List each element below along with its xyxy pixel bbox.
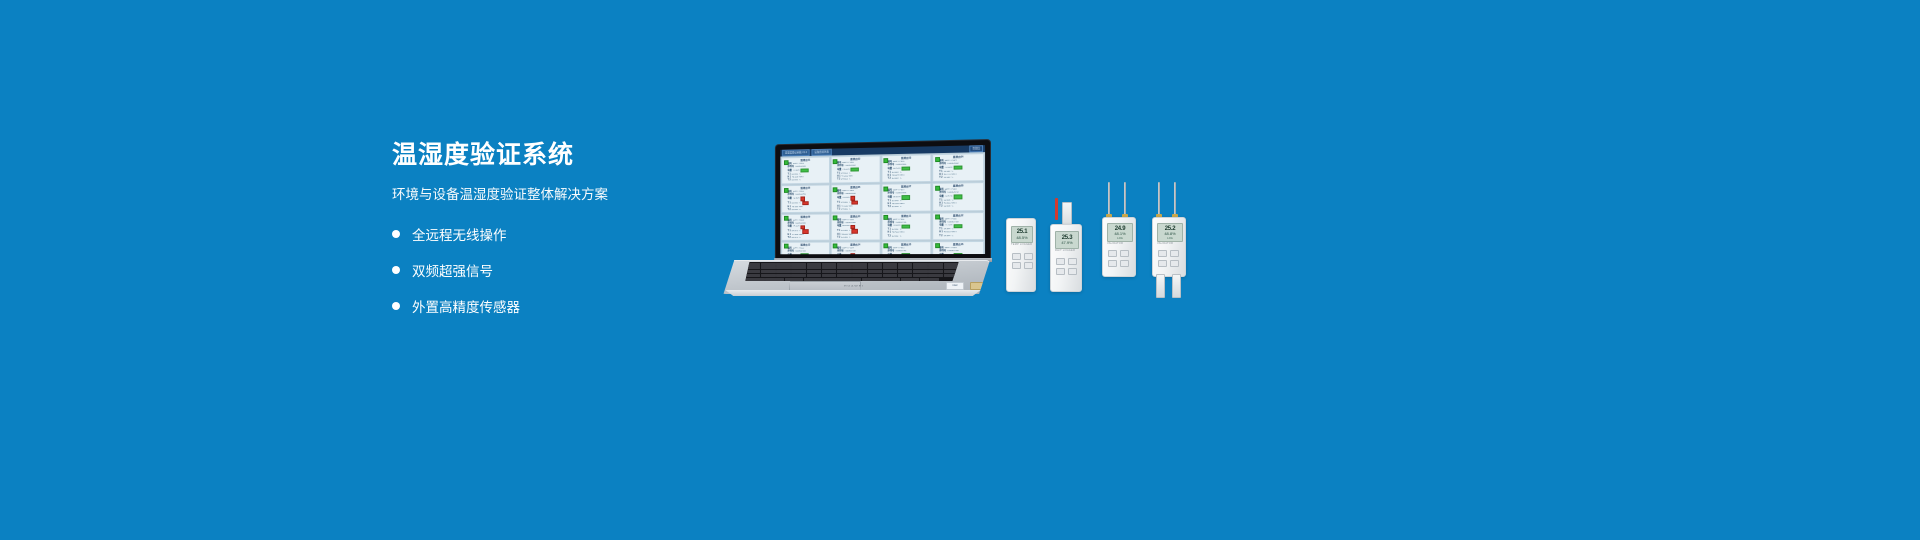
keyboard-key[interactable] [913,270,928,273]
keyboard-key[interactable] [837,263,852,266]
keyboard-key[interactable] [776,274,791,277]
keyboard-key[interactable] [791,274,806,277]
feature-list: 全远程无线操作 双频超强信号 外置高精度传感器 [392,224,722,316]
monitor-card[interactable]: 监测点12编号B04-TT-012序列号T1200571D电量77.71%T 1… [932,212,984,240]
status-led-icon [883,186,888,191]
keyboard-key[interactable] [944,270,959,273]
monitor-card[interactable]: 监测点13编号B04-TT-013序列号T1200572D电量75.02%T 1… [781,241,829,254]
lcd-status: LOG [1117,237,1122,240]
row-value: 24.882 ℃ [841,201,851,204]
row-key: T 2 [837,237,840,240]
row-value: 25.302 ℃ [841,230,851,233]
monitor-card[interactable]: 监测点04编号B04-TT-004序列号T1200563D电量75.33%T 1… [932,153,984,182]
keyboard-key[interactable] [761,270,776,273]
page-subtitle: 环境与设备温湿度验证整体解决方案 [392,186,722,204]
keyboard-key[interactable] [883,270,898,273]
keyboard-key[interactable] [913,263,928,266]
row-value: 77.08% [793,170,800,173]
device-key-ok[interactable] [1068,268,1077,275]
laptop-screen: 温湿度验证系统 V2.0 设备连接状态 管理员 监测点01编号B04-TT-00… [780,145,985,254]
row-value: 76.47% [945,196,953,199]
device-brand-label: RH/T LOGGER [1055,249,1075,252]
keyboard-key[interactable] [746,266,761,269]
hero-text-block: 温湿度验证系统 环境与设备温湿度验证整体解决方案 全远程无线操作 双频超强信号 … [392,140,722,332]
row-key: T 2 [788,179,791,182]
keyboard-key[interactable] [944,274,959,277]
row-key: 电量 [837,169,841,172]
monitor-card[interactable]: 监测点08编号B04-TT-008序列号T1200567D电量76.47%T 1… [932,182,984,211]
keyboard-key[interactable] [944,266,959,269]
probe-cable-red-icon [1055,198,1058,220]
dot-bullet-icon [392,302,400,310]
device-key-down[interactable] [1170,250,1179,257]
monitor-card-rows: 编号B04-TT-012序列号T1200571D电量77.71%T 124.94… [934,218,982,238]
monitor-card-row: T 225.066 ℃ [939,205,982,208]
row-value: 24.944 ℃ [943,235,953,238]
keyboard-key[interactable] [761,266,776,269]
monitor-card[interactable]: 监测点05编号B04-TT-005序列号T1200564D电量73.90%T 1… [781,185,829,213]
row-value: 79.12% [842,169,849,172]
row-value: 73.90% [793,198,800,201]
laptop-front-edge [720,290,986,296]
row-value: 25.003 ℃ [792,202,801,205]
status-led-icon [935,157,940,162]
external-probe-right [1172,274,1181,298]
keyboard-key[interactable] [822,270,837,273]
titlebar-spacer [833,149,967,152]
monitor-card-title: 监测点16 [934,243,982,247]
status-led-icon [833,244,838,249]
device-body: 25.3 47.9% RH/T LOGGER [1050,224,1082,292]
keyboard-key[interactable] [944,263,959,266]
probe-antenna-right-icon [1174,182,1176,216]
device-body: 25.1 48.5% TEMP LOGGER [1006,218,1036,292]
device-lcd-display: 25.3 47.9% [1055,231,1079,249]
device-lcd-display: 24.9 48.1% LOG [1107,223,1133,242]
device-key-up[interactable] [1108,250,1117,257]
row-value: 78.66% [842,197,849,200]
row-key: 电量 [888,168,892,171]
row-key: T 1 [837,202,840,205]
device-key-down[interactable] [1068,258,1077,265]
alarm-badge [851,253,856,254]
monitor-card[interactable]: 监测点15编号B04-TT-015序列号T1200574D电量78.29%T 1… [881,241,931,254]
monitor-card[interactable]: 监测点11编号B04-TT-011序列号T1200570D电量79.88%T 1… [881,212,931,240]
device-brand-label: TEMP LOGGER [1011,243,1032,246]
lcd-humidity: 48.5% [1016,236,1027,241]
keyboard-key[interactable] [883,263,898,266]
laptop-illustration: 温湿度验证系统 V2.0 设备连接状态 管理员 监测点01编号B04-TT-00… [718,140,990,300]
device-key-down[interactable] [1024,253,1033,260]
monitor-card-row: T 225.011 ℃ [888,235,930,238]
device-lcd-display: 25.1 48.5% [1011,226,1033,243]
device-keypad-2[interactable] [1158,260,1179,267]
keyboard-key[interactable] [761,263,776,266]
row-value: 82.03% [842,225,849,228]
device-key-up[interactable] [1158,250,1167,257]
data-logger-small[interactable]: 25.1 48.5% TEMP LOGGER [1006,218,1036,292]
intel-sticker: intel [946,282,964,290]
device-keypad[interactable] [1012,253,1033,260]
device-brand-label: VALIDATOR [1157,242,1173,245]
feature-label: 双频超强信号 [412,260,493,280]
keyboard-key[interactable] [913,274,928,277]
keyboard-key[interactable] [868,270,883,273]
device-key-up[interactable] [1012,253,1021,260]
keyboard-key[interactable] [807,270,822,273]
monitor-card-rows: 编号B04-TT-016序列号T1200575D电量80.64%T 125.23… [934,247,982,254]
monitor-card-title: 监测点15 [883,243,930,246]
monitor-card-row: T 225.081 ℃ [788,179,828,182]
dot-bullet-icon [392,230,400,238]
monitor-card[interactable]: 监测点02编号B04-TT-002序列号T1200561D电量79.12%T 1… [831,155,880,183]
row-key: 电量 [788,170,792,173]
monitor-card-rows: 编号B04-TT-010序列号T1200569D电量82.03%T 125.30… [832,218,878,239]
keyboard-key[interactable] [928,270,943,273]
keyboard-key[interactable] [822,266,837,269]
status-led-icon [833,187,838,192]
monitor-card-rows: 编号B04-TT-004序列号T1200563D电量75.33%T 125.11… [934,159,982,180]
keyboard-key[interactable] [746,270,761,273]
device-key-set[interactable] [1012,262,1021,269]
monitor-card-row: T 224.882 ℃ [837,208,878,211]
keyboard-key[interactable] [761,274,776,277]
external-probe-left [1156,274,1165,298]
keyboard-key[interactable] [883,266,898,269]
keyboard-key[interactable] [928,274,943,277]
device-group: 25.1 48.5% TEMP LOGGER 25.3 [1000,180,1230,330]
monitor-card[interactable]: 监测点06编号B04-TT-006序列号T1200565D电量78.66%T 1… [831,184,880,212]
row-value: 79.88% [893,225,900,228]
keyboard-key[interactable] [913,266,928,269]
laptop-base: intel HUAWEI [718,260,990,300]
row-value: 81.45% [893,168,900,171]
laptop-lid: 温湿度验证系统 V2.0 设备连接状态 管理员 监测点01编号B04-TT-00… [776,140,990,260]
status-led-icon [833,215,838,220]
feature-label: 外置高精度传感器 [412,296,520,316]
row-key: T 2 [939,235,942,238]
monitor-card-row: T 224.913 ℃ [837,178,878,181]
keyboard-key[interactable] [901,278,920,281]
keyboard-key[interactable] [898,263,913,266]
keyboard-key[interactable] [791,263,806,266]
lcd-status: LOG [1167,237,1172,240]
monitor-card-grid: 监测点01编号B04-TT-001序列号T1200560D电量77.08%T 1… [780,152,985,254]
monitor-card-row: T 224.944 ℃ [939,235,982,238]
status-led-icon [784,244,789,249]
device-brand-label: VALIDATOR [1107,242,1123,245]
keyboard-key[interactable] [791,266,806,269]
row-key: 电量 [939,167,943,170]
battery-badge [901,253,910,254]
monitor-card-rows: 编号B04-TT-014序列号T1200573D电量81.10%T 125.05… [832,247,878,254]
monitor-card-row: T 225.003 ℃ [788,208,828,211]
keyboard-key[interactable] [765,278,784,281]
device-keypad-2[interactable] [1056,268,1077,275]
keyboard-key[interactable] [746,278,765,281]
device-body: 25.2 48.8% LOG VALIDATOR [1152,217,1186,277]
row-key: T 1 [788,230,791,233]
keyboard-key[interactable] [822,274,837,277]
keyboard-key[interactable] [868,274,883,277]
list-item: 全远程无线操作 [392,224,722,244]
monitor-card[interactable]: 监测点07编号B04-TT-007序列号T1200566D电量80.21%T 1… [881,183,931,211]
keyboard-key[interactable] [868,266,883,269]
monitor-card-rows: 编号B04-TT-013序列号T1200572D电量75.02%T 125.18… [783,247,828,254]
device-keypad-2[interactable] [1108,260,1129,267]
device-lcd-display: 25.2 48.8% LOG [1157,223,1183,242]
status-led-icon [935,186,940,191]
status-led-icon [935,243,940,248]
monitor-card-row: 电量78.29% [888,253,930,254]
keyboard-key[interactable] [852,274,867,277]
keyboard-key[interactable] [852,266,867,269]
keyboard-key[interactable] [928,266,943,269]
status-led-icon [883,158,888,163]
keyboard-key[interactable] [823,278,861,281]
row-value: 25.081 ℃ [792,179,801,182]
row-key: 电量 [939,196,943,199]
keyboard-key[interactable] [883,274,898,277]
row-key: 电量 [888,225,892,228]
row-value: 80.21% [893,196,900,199]
row-key: 电量 [788,198,792,201]
laptop-brand-logo: HUAWEI [844,285,864,287]
keyboard-key[interactable] [822,263,837,266]
keyboard-key[interactable] [746,274,761,277]
keyboard-row [746,263,958,266]
row-value: 25.140 ℃ [892,206,902,209]
row-key: T 2 [888,235,891,238]
battery-badge [801,253,809,254]
monitor-card[interactable]: 监测点14编号B04-TT-014序列号T1200573D电量81.10%T 1… [831,241,880,254]
laptop-keyboard[interactable] [745,262,959,281]
keyboard-key[interactable] [898,274,913,277]
keyboard-key[interactable] [837,266,852,269]
monitor-card-rows: 编号B04-TT-007序列号T1200566D电量80.21%T 125.14… [883,189,930,209]
row-value: 24.970 ℃ [792,237,801,240]
performance-sticker [970,282,984,290]
row-value: 25.003 ℃ [792,209,801,212]
device-body: 24.9 48.1% LOG VALIDATOR [1102,217,1136,277]
device-key-ok[interactable] [1170,260,1179,267]
keyboard-key[interactable] [852,263,867,266]
device-keypad[interactable] [1108,250,1129,257]
keyboard-key[interactable] [807,274,822,277]
feature-label: 全远程无线操作 [412,224,507,244]
monitor-card-rows: 编号B04-TT-002序列号T1200561D电量79.12%T 124.91… [832,161,878,181]
monitor-card-rows: 编号B04-TT-003序列号T1200562D电量81.45%T 125.22… [883,160,930,180]
keyboard-key[interactable] [928,263,943,266]
row-key: T 2 [939,177,942,180]
row-value: 25.066 ℃ [943,206,953,209]
dot-bullet-icon [392,266,400,274]
list-item: 双频超强信号 [392,260,722,280]
keyboard-key[interactable] [746,263,761,266]
row-value: 25.011 ℃ [892,235,902,238]
keyboard-key[interactable] [804,278,823,281]
row-value: 74.55% [793,226,800,229]
battery-badge [953,253,962,254]
monitor-card[interactable]: 监测点09编号B04-TT-009序列号T1200568D电量74.55%T 1… [781,213,829,241]
row-value: 24.970 ℃ [792,230,801,233]
product-banner: 温湿度验证系统 环境与设备温湿度验证整体解决方案 全远程无线操作 双频超强信号 … [0,0,1920,540]
device-keypad[interactable] [1158,250,1179,257]
keyboard-key[interactable] [852,270,867,273]
device-keypad[interactable] [1056,258,1077,265]
keyboard-key[interactable] [920,278,939,281]
monitor-card-row: 电量81.10% [837,253,878,254]
device-keypad-2[interactable] [1012,262,1033,269]
status-led-icon [935,214,940,219]
row-key: 电量 [837,197,841,200]
row-key: T 2 [888,206,891,209]
monitor-card-row: 电量75.02% [788,253,828,254]
row-value: 25.220 ℃ [892,177,902,180]
keyboard-key[interactable] [898,266,913,269]
keyboard-row [746,270,958,273]
row-key: 电量 [888,196,892,199]
status-led-icon [883,215,888,220]
row-value: 25.302 ℃ [841,237,851,240]
keyboard-key[interactable] [785,278,804,281]
monitor-card-rows: 编号B04-TT-009序列号T1200568D电量74.55%T 124.97… [783,219,828,240]
row-key: T 1 [837,230,840,233]
monitor-card[interactable]: 监测点03编号B04-TT-003序列号T1200562D电量81.45%T 1… [881,154,931,183]
status-led-icon [784,188,789,193]
monitor-card-row: T 225.302 ℃ [837,237,878,240]
monitor-card-rows: 编号B04-TT-006序列号T1200565D电量78.66%T 124.88… [832,190,878,211]
row-key: 电量 [788,226,792,229]
monitor-card-row: T 224.970 ℃ [788,237,828,240]
row-value: 25.118 ℃ [943,177,953,180]
monitor-card-rows: 编号B04-TT-015序列号T1200574D电量78.29%T 124.89… [883,247,930,254]
keyboard-key[interactable] [776,266,791,269]
monitor-card[interactable]: 监测点10编号B04-TT-010序列号T1200569D电量82.03%T 1… [831,213,880,241]
device-key-up[interactable] [1056,258,1065,265]
row-value: 24.882 ℃ [841,208,851,211]
row-key: T 2 [888,178,891,181]
device-key-ok[interactable] [1024,262,1033,269]
device-key-ok[interactable] [1120,260,1129,267]
keyboard-key[interactable] [807,266,822,269]
keyboard-key[interactable] [837,270,852,273]
monitor-card-row: T 225.140 ℃ [888,206,930,209]
probe-antenna-right-icon [1124,182,1126,216]
keyboard-key[interactable] [862,278,881,281]
row-value: 24.913 ℃ [841,178,851,181]
page-title: 温湿度验证系统 [392,140,722,170]
device-key-set[interactable] [1158,260,1167,267]
row-key: T 2 [788,237,791,240]
keyboard-key[interactable] [868,263,883,266]
laptop-deck: intel HUAWEI [718,260,990,294]
probe-antenna-left-icon [1108,182,1110,216]
status-led-icon [784,160,789,165]
monitor-card-rows: 编号B04-TT-011序列号T1200570D电量79.88%T 125.01… [883,218,930,238]
row-key: 电量 [939,225,943,228]
keyboard-row [746,266,958,269]
status-led-icon [833,159,838,164]
probe-antenna-left-icon [1158,182,1160,216]
keyboard-key[interactable] [776,270,791,273]
row-key: T 1 [788,202,791,205]
monitor-card[interactable]: 监测点16编号B04-TT-016序列号T1200575D电量80.64%T 1… [932,241,984,254]
monitor-card-row: T 225.118 ℃ [939,176,982,179]
monitor-card-rows: 编号B04-TT-001序列号T1200560D电量77.08%T 125.08… [783,162,828,182]
keyboard-key[interactable] [881,278,900,281]
keyboard-row [746,278,958,281]
row-value: 77.71% [945,225,953,228]
list-item: 外置高精度传感器 [392,296,722,316]
monitor-card[interactable]: 监测点01编号B04-TT-001序列号T1200560D电量77.08%T 1… [781,156,829,184]
keyboard-key[interactable] [776,263,791,266]
monitor-card-rows: 编号B04-TT-008序列号T1200567D电量76.47%T 125.06… [934,188,982,208]
device-key-down[interactable] [1120,250,1129,257]
row-key: T 2 [837,178,840,181]
lcd-humidity: 47.9% [1061,241,1072,246]
keyboard-key[interactable] [837,274,852,277]
monitor-card-row: T 225.220 ℃ [888,177,930,180]
status-led-icon [784,216,789,221]
row-key: 电量 [837,226,841,229]
status-led-icon [883,244,888,249]
row-key: T 2 [939,206,942,209]
device-key-set[interactable] [1056,268,1065,275]
keyboard-key[interactable] [791,270,806,273]
keyboard-key[interactable] [898,270,913,273]
keyboard-key[interactable] [807,263,822,266]
row-key: T 2 [837,208,840,211]
row-key: T 2 [788,209,791,212]
row-value: 75.33% [945,167,953,170]
monitor-card-row: 电量80.64% [939,253,982,254]
keyboard-row [746,274,958,277]
device-key-set[interactable] [1108,260,1117,267]
monitor-card-rows: 编号B04-TT-005序列号T1200564D电量73.90%T 125.00… [783,191,828,212]
